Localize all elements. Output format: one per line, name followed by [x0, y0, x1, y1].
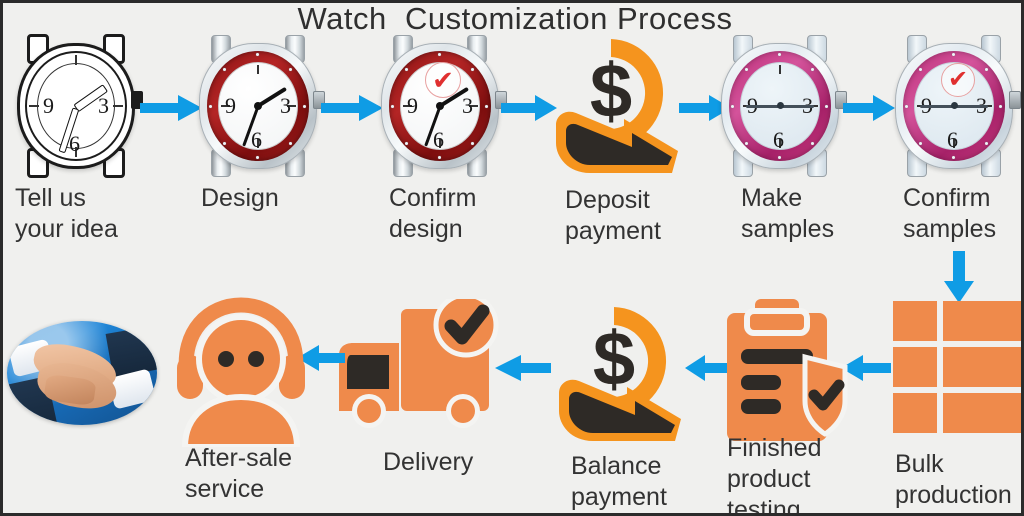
stacked-bricks-icon	[893, 301, 1024, 441]
arrow-6	[944, 251, 974, 303]
step-label-deposit-payment: Deposit payment	[565, 185, 735, 247]
step-label-design: Design	[201, 183, 361, 214]
arrow-2	[321, 95, 383, 121]
watch-red-bezel-check-icon: 9 3 6 ✔	[381, 35, 499, 177]
step-confirm-design[interactable]: 9 3 6 ✔ Confirm design	[375, 31, 505, 181]
watch-numeral-3: 3	[462, 93, 473, 119]
step-delivery[interactable]: Delivery	[333, 299, 503, 449]
handshake-photo	[7, 321, 157, 425]
page-title: Watch Customization Process	[3, 1, 1024, 37]
arrow-5	[843, 95, 895, 121]
hand-holding-dollar-icon: $	[550, 33, 698, 183]
watch-numeral-9: 9	[43, 93, 54, 119]
step-make-samples[interactable]: 9 3 6 Make samples	[715, 31, 845, 181]
watch-red-bezel-icon: 9 3 6	[199, 35, 317, 177]
step-label-confirm-design: Confirm design	[389, 183, 549, 245]
step-label-finished-product-testing: Finished product testing	[727, 433, 907, 516]
step-label-bulk-production: Bulk production	[895, 449, 1024, 511]
dollar-symbol: $	[593, 317, 635, 402]
watch-numeral-6: 6	[251, 127, 262, 153]
step-design[interactable]: 9 3 6 Design	[193, 31, 323, 181]
clipboard-shield-check-icon	[719, 293, 859, 450]
step-after-sale-service[interactable]: After-sale service	[171, 297, 311, 447]
headset-agent-icon	[171, 297, 311, 452]
step-label-balance-payment: Balance payment	[571, 451, 751, 513]
step-balance-payment[interactable]: $ Balance payment	[551, 301, 701, 451]
step-label-confirm-samples: Confirm samples	[903, 183, 1024, 245]
agent-eye-left	[218, 351, 234, 367]
watch-numeral-9: 9	[225, 93, 236, 119]
watch-pink-bezel-check-icon: 9 3 6 ✔	[895, 35, 1013, 177]
watch-numeral-6: 6	[433, 127, 444, 153]
check-glyph: ✔	[432, 67, 454, 93]
confirm-check-icon: ✔	[425, 62, 461, 98]
watch-sketch-icon: 9 3 6	[17, 35, 135, 177]
step-finished-product-testing[interactable]: Finished product testing	[719, 293, 861, 453]
step-label-after-sale-service: After-sale service	[185, 443, 365, 505]
delivery-truck-check-icon	[333, 299, 503, 444]
watch-numeral-3: 3	[280, 93, 291, 119]
agent-eye-right	[248, 351, 264, 367]
watch-customization-process-infographic: Watch Customization Process 9 3 6	[0, 0, 1024, 516]
step-bulk-production[interactable]: Bulk production	[893, 301, 1024, 451]
step-handshake[interactable]	[7, 321, 157, 431]
check-glyph: ✔	[948, 68, 968, 92]
step-label-delivery: Delivery	[383, 447, 563, 478]
watch-numeral-9: 9	[407, 93, 418, 119]
step-label-tell-us-your-idea: Tell us your idea	[15, 183, 175, 245]
arrow-9	[495, 355, 551, 381]
step-label-make-samples: Make samples	[741, 183, 901, 245]
step-deposit-payment[interactable]: $ Deposit payment	[548, 33, 698, 183]
hand-holding-dollar-icon: $	[553, 301, 701, 451]
watch-numeral-6: 6	[773, 127, 784, 153]
watch-numeral-6: 6	[947, 127, 958, 153]
step-tell-us-your-idea[interactable]: 9 3 6 Tell us your idea	[11, 31, 141, 181]
confirm-check-icon: ✔	[941, 63, 975, 97]
dollar-symbol: $	[590, 49, 632, 134]
step-confirm-samples[interactable]: 9 3 6 ✔ Confirm samples	[889, 31, 1023, 181]
watch-pink-bezel-icon: 9 3 6	[721, 35, 839, 177]
